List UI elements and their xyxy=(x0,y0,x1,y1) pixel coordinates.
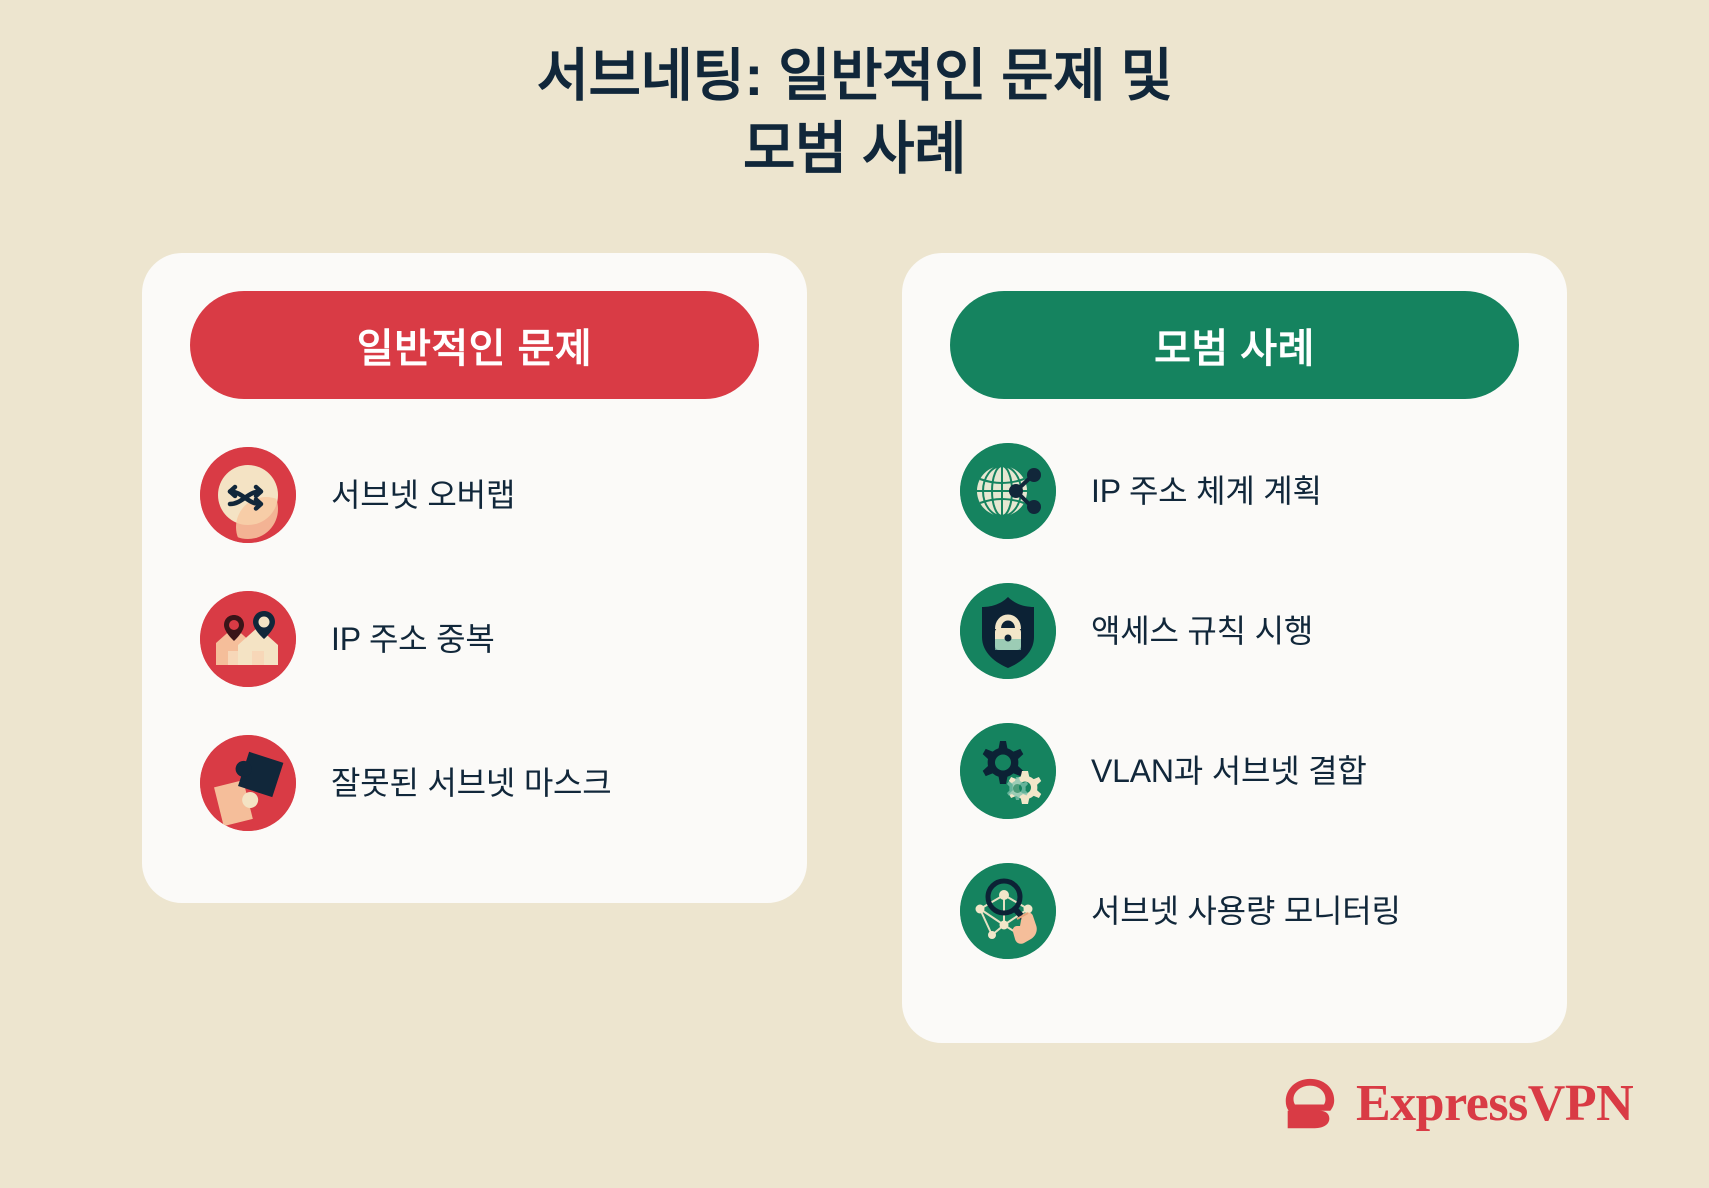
list-item-label: 잘못된 서브넷 마스크 xyxy=(331,764,612,802)
item-list-common-issues: 서브넷 오버랩 xyxy=(190,447,759,831)
card-header-best-practices: 모범 사례 xyxy=(950,291,1519,399)
list-item-label: VLAN과 서브넷 결합 xyxy=(1091,752,1367,790)
puzzle-piece-icon xyxy=(200,735,296,831)
expressvpn-logo: ExpressVPN xyxy=(1278,1073,1633,1135)
list-item[interactable]: 액세스 규칙 시행 xyxy=(950,583,1519,679)
globe-network-icon xyxy=(960,443,1056,539)
list-item[interactable]: 서브넷 오버랩 xyxy=(190,447,759,543)
list-item-label: 서브넷 사용량 모니터링 xyxy=(1091,892,1401,930)
list-item[interactable]: IP 주소 체계 계획 xyxy=(950,443,1519,539)
list-item-label: 서브넷 오버랩 xyxy=(331,476,515,514)
item-list-best-practices: IP 주소 체계 계획 액세스 규칙 시행 xyxy=(950,443,1519,959)
expressvpn-e-mark-icon xyxy=(1278,1073,1340,1135)
cards-container: 일반적인 문제 xyxy=(0,253,1709,1043)
list-item[interactable]: VLAN과 서브넷 결합 xyxy=(950,723,1519,819)
duplicate-houses-pin-icon xyxy=(200,591,296,687)
card-best-practices: 모범 사례 xyxy=(902,253,1567,1043)
card-common-issues: 일반적인 문제 xyxy=(142,253,807,903)
gears-icon xyxy=(960,723,1056,819)
list-item-label: IP 주소 체계 계획 xyxy=(1091,472,1322,510)
page-title: 서브네팅: 일반적인 문제 및 모범 사례 xyxy=(0,40,1709,186)
list-item[interactable]: 잘못된 서브넷 마스크 xyxy=(190,735,759,831)
list-item[interactable]: 서브넷 사용량 모니터링 xyxy=(950,863,1519,959)
network-magnifier-hand-icon xyxy=(960,863,1056,959)
shield-lock-icon xyxy=(960,583,1056,679)
expressvpn-wordmark: ExpressVPN xyxy=(1356,1078,1633,1130)
overlap-arrows-icon xyxy=(200,447,296,543)
list-item[interactable]: IP 주소 중복 xyxy=(190,591,759,687)
list-item-label: 액세스 규칙 시행 xyxy=(1091,612,1313,650)
list-item-label: IP 주소 중복 xyxy=(331,620,495,658)
card-header-common-issues: 일반적인 문제 xyxy=(190,291,759,399)
